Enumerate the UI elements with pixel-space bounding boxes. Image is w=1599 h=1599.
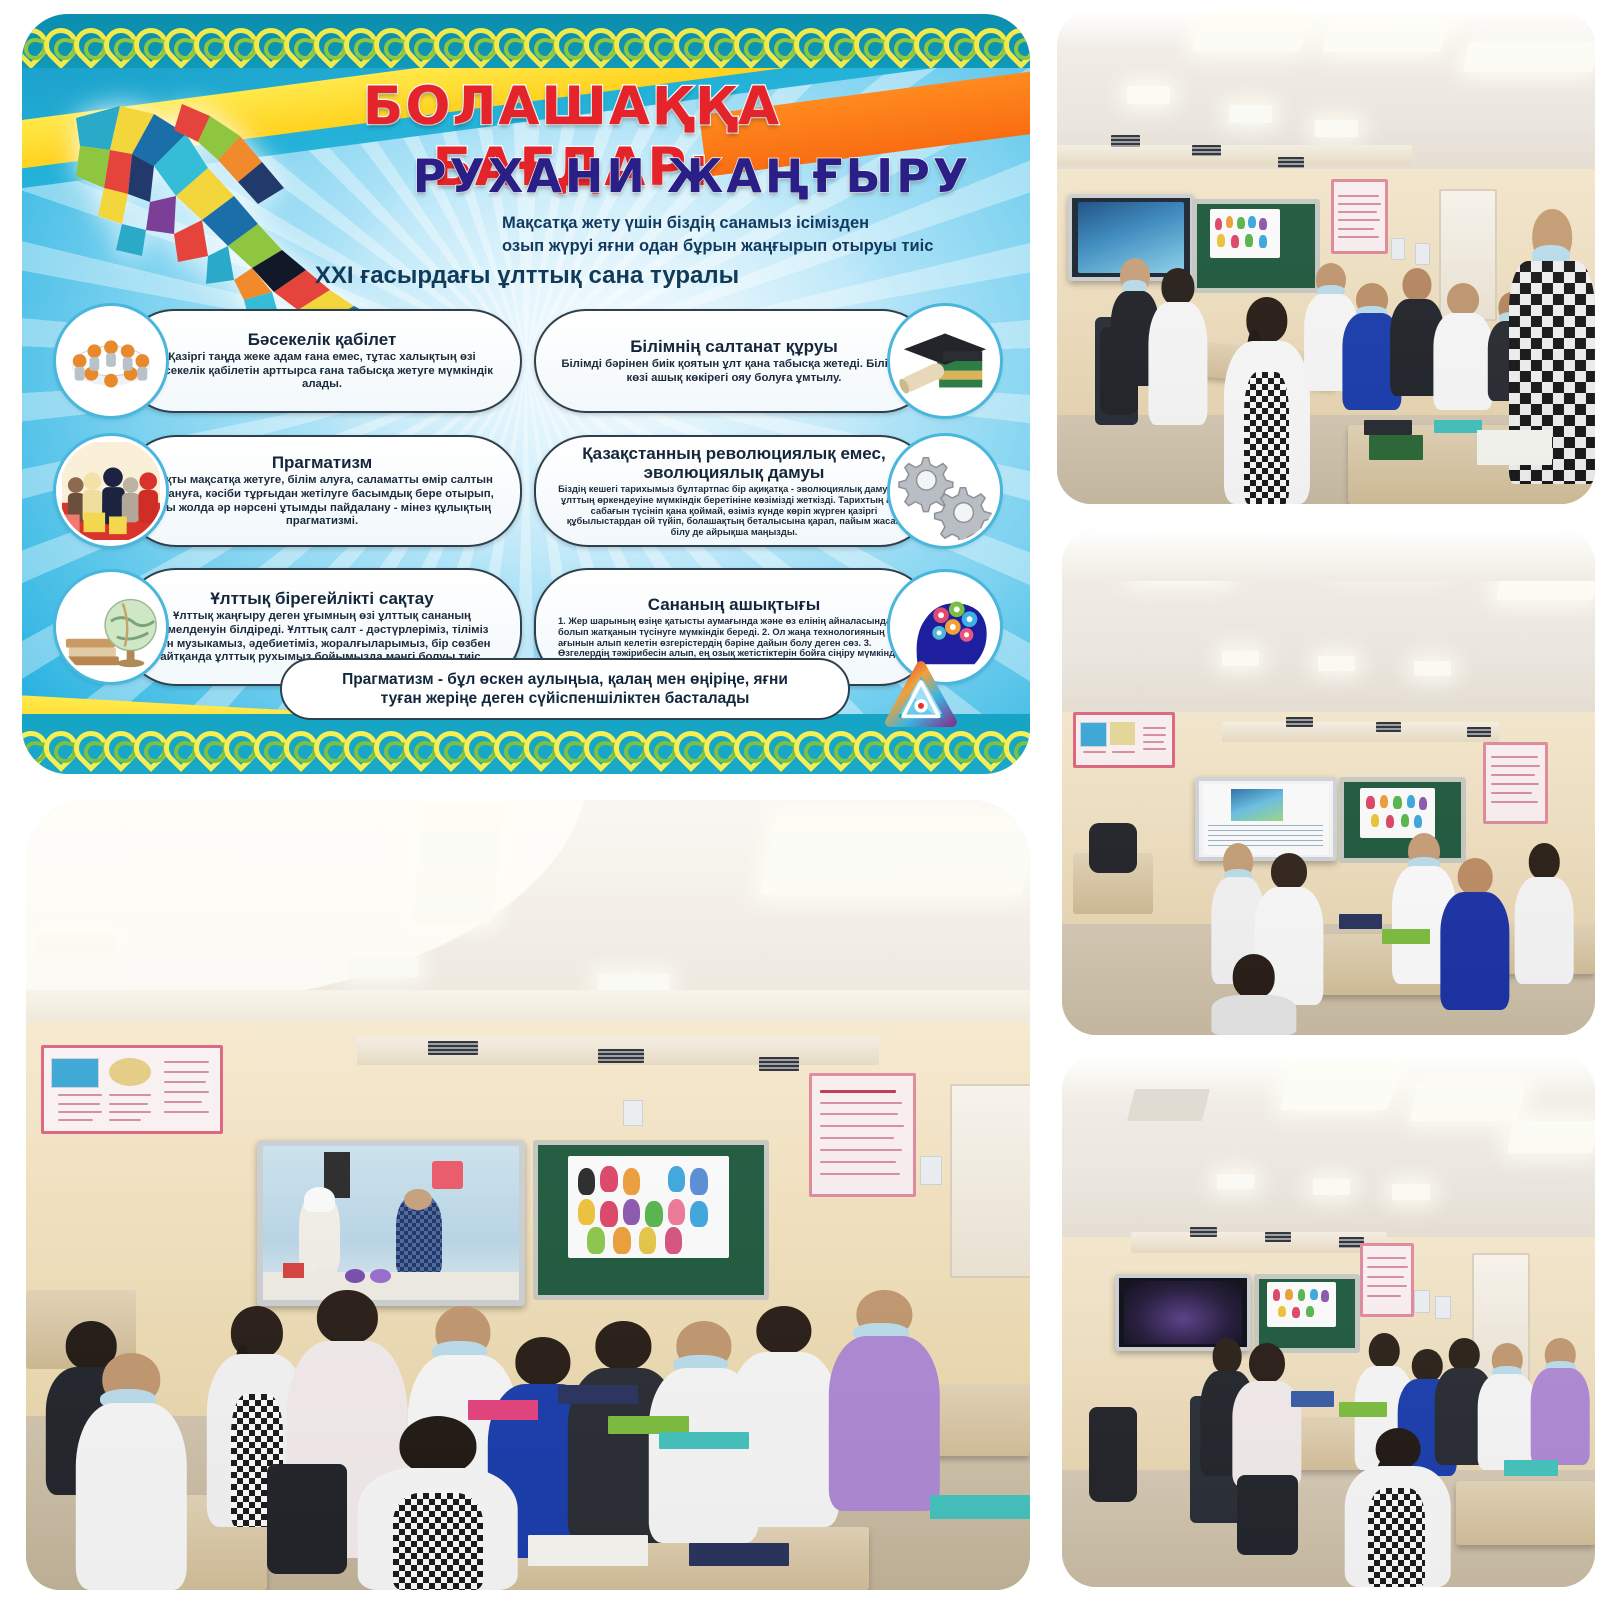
ornament-unit xyxy=(822,727,852,761)
poster-lead-line-2: озып жүруі яғни одан бұрын жаңғырып отыр… xyxy=(502,235,972,258)
ornament-unit xyxy=(72,24,102,58)
photo-tone xyxy=(26,800,1030,1590)
card-title: Бәсекелік қабілет xyxy=(248,330,397,349)
card-text: Ұлттық жаңғыру деген ұғымның өзі ұлттық … xyxy=(146,610,498,665)
ornament-unit xyxy=(672,727,702,761)
photo-tone xyxy=(1057,12,1595,504)
ornament-unit xyxy=(22,24,42,58)
ornament-unit xyxy=(852,727,882,761)
ornament-unit xyxy=(252,24,282,58)
ornament-unit xyxy=(492,727,522,761)
ornament-unit xyxy=(732,727,762,761)
ornament-unit xyxy=(972,24,1002,58)
round-table-meeting-icon xyxy=(56,306,166,416)
ornament-unit xyxy=(372,24,402,58)
card-education: Білімнің салтанат құруы Білімді бәрінен … xyxy=(528,298,1000,424)
ornament-unit xyxy=(612,727,642,761)
card-text: Қазіргі таңда жеке адам ғана емес, тұтас… xyxy=(146,351,498,392)
classroom-scene xyxy=(1062,530,1595,1035)
photo-collage: БОЛАШАҚҚА БАҒДАР: РУХАНИ ЖАҢҒЫРУ Мақсатқ… xyxy=(0,0,1599,1599)
ornament-unit xyxy=(702,727,732,761)
photo-bottom-right xyxy=(1062,1057,1595,1587)
ornament-unit xyxy=(132,24,162,58)
ornament-unit xyxy=(282,727,312,761)
ornament-unit xyxy=(402,24,432,58)
card-row-2: Прагматизм Нақты мақсатқа жетуге, білім … xyxy=(56,425,1000,557)
card-body-pragmatism: Прагматизм Нақты мақсатқа жетуге, білім … xyxy=(122,435,522,547)
ornament-unit xyxy=(582,727,612,761)
ornament-unit xyxy=(732,24,762,58)
ornament-unit xyxy=(252,727,282,761)
ornament-unit xyxy=(42,727,72,761)
ornament-unit xyxy=(222,24,252,58)
ornament-unit xyxy=(852,24,882,58)
ornament-unit xyxy=(42,24,72,58)
ornament-unit xyxy=(822,24,852,58)
ornament-unit xyxy=(522,727,552,761)
card-title: Прагматизм xyxy=(272,453,372,472)
graduation-cap-books-icon xyxy=(890,306,1000,416)
ornament-unit xyxy=(342,24,372,58)
kazakh-ornament-band-top xyxy=(22,14,1030,68)
kazakh-ornament-band-bottom xyxy=(22,714,1030,774)
ornament-unit xyxy=(102,24,132,58)
poster-subtitle: РУХАНИ ЖАҢҒЫРУ xyxy=(352,149,1030,203)
people-silhouettes-icon xyxy=(56,436,166,546)
ornament-unit xyxy=(132,727,162,761)
ornament-unit xyxy=(312,727,342,761)
ornament-unit xyxy=(162,24,192,58)
ornament-unit xyxy=(522,24,552,58)
ornament-unit xyxy=(402,727,432,761)
ornament-unit xyxy=(162,727,192,761)
ornament-unit xyxy=(762,727,792,761)
card-body-evolutionary-development: Қазақстанның революциялық емес, эволюция… xyxy=(534,435,934,547)
ornament-unit xyxy=(372,727,402,761)
ornament-unit xyxy=(792,727,822,761)
card-title: Сананың ашықтығы xyxy=(648,595,821,614)
card-pragmatism: Прагматизм Нақты мақсатқа жетуге, білім … xyxy=(56,425,528,557)
poster-cards: Бәсекелік қабілет Қазіргі таңда жеке ада… xyxy=(56,298,1000,698)
photo-bottom-left-large xyxy=(26,800,1030,1590)
card-title: Білімнің салтанат құруы xyxy=(630,337,838,356)
poster-quote-line-2: туған жеріңе деген сүйіспеншіліктен баст… xyxy=(342,689,788,708)
ornament-unit xyxy=(612,24,642,58)
poster-lead-line-1: Мақсатқа жету үшін біздің санамыз ісіміз… xyxy=(502,212,972,235)
poster-quote: Прагматизм - бұл өскен аулыңыа, қалаң ме… xyxy=(280,658,850,720)
poster-quote-line-1: Прагматизм - бұл өскен аулыңыа, қалаң ме… xyxy=(342,670,788,689)
gears-icon xyxy=(890,436,1000,546)
card-title: Ұлттық бірегейлікті сақтау xyxy=(210,589,433,608)
ornament-unit xyxy=(102,727,132,761)
card-body-competitiveness: Бәсекелік қабілет Қазіргі таңда жеке ада… xyxy=(122,309,522,413)
ornament-unit xyxy=(192,727,222,761)
ornament-unit xyxy=(552,24,582,58)
poster-rukhani-zhangyru: БОЛАШАҚҚА БАҒДАР: РУХАНИ ЖАҢҒЫРУ Мақсатқ… xyxy=(22,14,1030,774)
ornament-unit xyxy=(762,24,792,58)
ornament-unit xyxy=(22,727,42,761)
photo-top-right xyxy=(1057,12,1595,504)
ornament-unit xyxy=(882,24,912,58)
ornament-unit xyxy=(672,24,702,58)
classroom-scene xyxy=(1062,1057,1595,1587)
card-title: Қазақстанның революциялық емес, эволюция… xyxy=(558,444,910,482)
card-competitiveness: Бәсекелік қабілет Қазіргі таңда жеке ада… xyxy=(56,298,528,424)
photo-tone xyxy=(1062,530,1595,1035)
card-evolutionary-development: Қазақстанның революциялық емес, эволюция… xyxy=(528,425,1000,557)
ornament-unit xyxy=(1002,24,1030,58)
ornament-unit xyxy=(912,24,942,58)
rukhani-zhangyru-logo-icon xyxy=(884,660,958,734)
ornament-unit xyxy=(192,24,222,58)
ornament-unit xyxy=(1002,727,1030,761)
ornament-unit xyxy=(972,727,1002,761)
ornament-unit xyxy=(432,727,462,761)
ornament-unit xyxy=(942,24,972,58)
card-text: 1. Жер шарының өзіңе қатысты аумағында ж… xyxy=(558,616,910,660)
ornament-unit xyxy=(72,727,102,761)
ornament-unit xyxy=(792,24,822,58)
poster-lead: Мақсатқа жету үшін біздің санамыз ісіміз… xyxy=(502,212,972,258)
classroom-scene xyxy=(26,800,1030,1590)
card-text: Нақты мақсатқа жетуге, білім алуға, сала… xyxy=(146,474,498,529)
ornament-unit xyxy=(222,727,252,761)
ornament-unit xyxy=(582,24,612,58)
card-text: Біздің кешегі тарихымыз бұлтартпас бір а… xyxy=(558,484,910,538)
ornament-unit xyxy=(552,727,582,761)
ornament-unit xyxy=(282,24,312,58)
ornament-unit xyxy=(432,24,462,58)
ornament-unit xyxy=(462,24,492,58)
globe-books-icon xyxy=(56,572,166,682)
ornament-unit xyxy=(642,24,672,58)
ornament-unit xyxy=(312,24,342,58)
ornament-unit xyxy=(492,24,522,58)
poster-section-title: XXI ғасырдағы ұлттық сана туралы xyxy=(292,262,762,290)
ornament-unit xyxy=(462,727,492,761)
card-row-1: Бәсекелік қабілет Қазіргі таңда жеке ада… xyxy=(56,298,1000,424)
card-text: Білімді бәрінен биік қоятын ұлт қана таб… xyxy=(558,358,910,385)
photo-tone xyxy=(1062,1057,1595,1587)
ornament-unit xyxy=(342,727,372,761)
classroom-scene xyxy=(1057,12,1595,504)
ornament-unit xyxy=(702,24,732,58)
card-body-education: Білімнің салтанат құруы Білімді бәрінен … xyxy=(534,309,934,413)
ornament-unit xyxy=(642,727,672,761)
photo-middle-right xyxy=(1062,530,1595,1035)
